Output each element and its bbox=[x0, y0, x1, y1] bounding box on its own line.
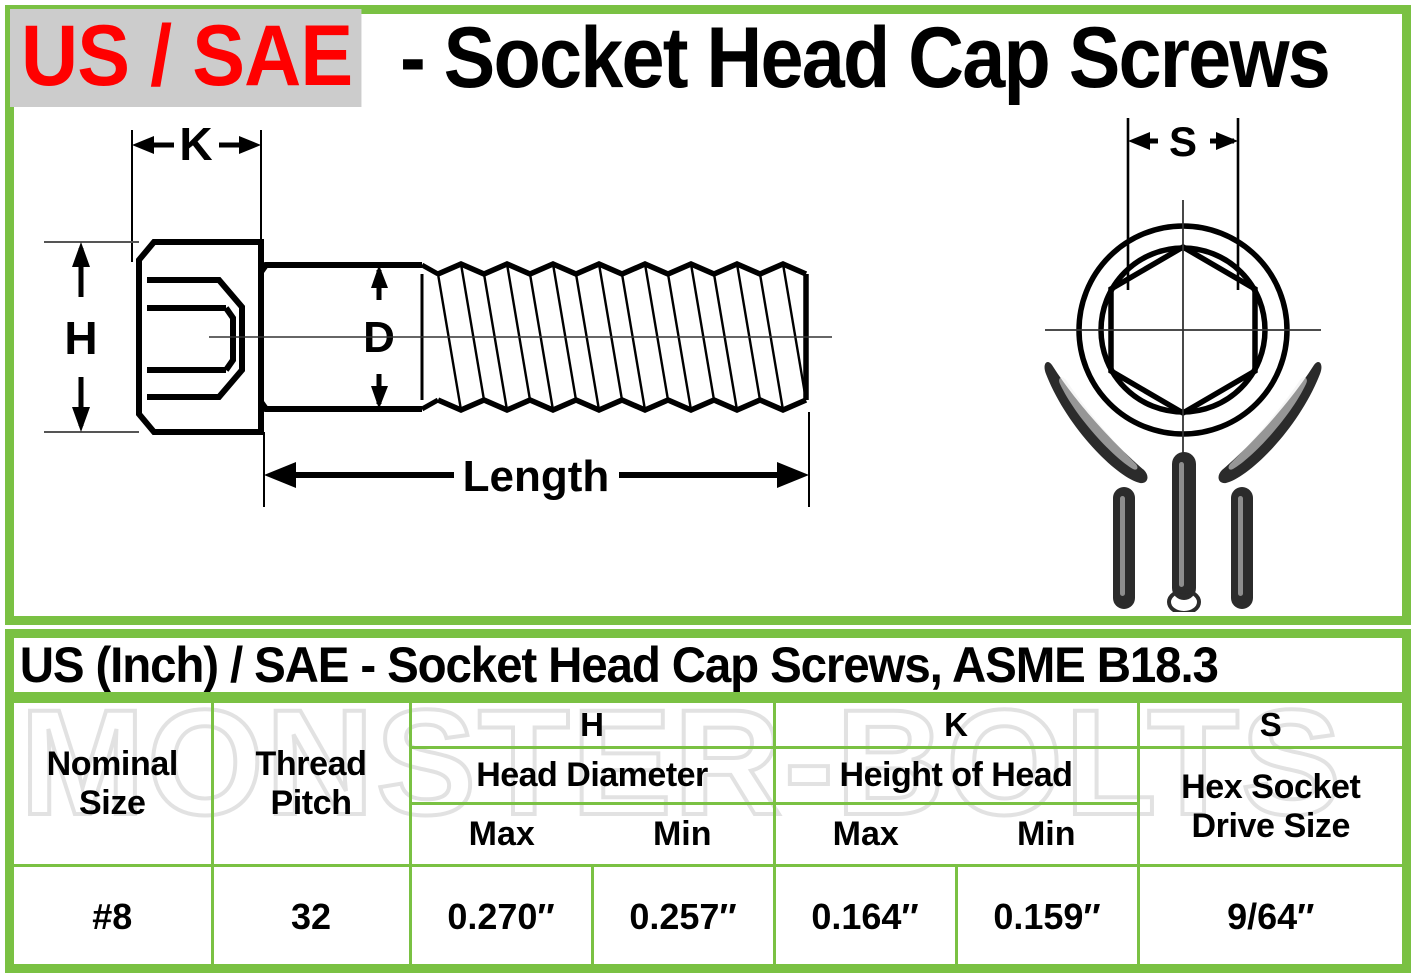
spec-sheet-page: US / SAE - Socket Head Cap Screws K bbox=[0, 0, 1416, 978]
col-header-thread-pitch: Thread Pitch bbox=[212, 702, 410, 866]
specification-table: Nominal Size Thread Pitch H K S Head Dia… bbox=[14, 700, 1402, 969]
table-title-text: US (Inch) / SAE - Socket Head Cap Screws… bbox=[14, 638, 1218, 694]
col-header-hex-socket-l1: Hex Socket bbox=[1142, 768, 1401, 806]
table-header-symbols: Nominal Size Thread Pitch H K S bbox=[14, 702, 1402, 748]
col-header-k-min: Min bbox=[956, 804, 1138, 866]
col-header-head-diameter: Head Diameter bbox=[410, 748, 774, 804]
col-header-h-max: Max bbox=[410, 804, 592, 866]
col-header-nominal-size-l2: Size bbox=[16, 784, 209, 822]
page-title: US / SAE - Socket Head Cap Screws bbox=[10, 8, 1390, 108]
dim-label-s: S bbox=[1169, 118, 1197, 165]
page-title-highlight: US / SAE bbox=[10, 9, 361, 107]
cell-head-diameter-max: 0.270″ bbox=[410, 866, 592, 968]
table-row: #8 32 0.270″ 0.257″ 0.164″ 0.159″ 9/64″ bbox=[14, 866, 1402, 968]
cell-thread-pitch: 32 bbox=[212, 866, 410, 968]
col-header-thread-pitch-l1: Thread bbox=[216, 745, 407, 783]
cell-hex-socket-drive-size: 9/64″ bbox=[1138, 866, 1402, 968]
col-header-k-max: Max bbox=[774, 804, 956, 866]
dim-label-h: H bbox=[64, 312, 97, 364]
col-header-h-min: Min bbox=[592, 804, 774, 866]
col-header-s-symbol: S bbox=[1138, 702, 1402, 748]
col-header-k-symbol: K bbox=[774, 702, 1138, 748]
col-header-nominal-size-l1: Nominal bbox=[16, 745, 209, 783]
cell-height-of-head-max: 0.164″ bbox=[774, 866, 956, 968]
col-header-nominal-size: Nominal Size bbox=[14, 702, 212, 866]
dim-label-length: Length bbox=[463, 452, 610, 501]
cell-head-diameter-min: 0.257″ bbox=[592, 866, 774, 968]
col-header-height-of-head: Height of Head bbox=[774, 748, 1138, 804]
col-header-hex-socket-drive-size: Hex Socket Drive Size bbox=[1138, 748, 1402, 866]
cell-nominal-size: #8 bbox=[14, 866, 212, 968]
table-title: US (Inch) / SAE - Socket Head Cap Screws… bbox=[14, 638, 1402, 700]
dim-label-k: K bbox=[179, 118, 212, 170]
hex-socket-top-view: S bbox=[1030, 112, 1370, 612]
col-header-thread-pitch-l2: Pitch bbox=[216, 784, 407, 822]
col-header-hex-socket-l2: Drive Size bbox=[1142, 807, 1401, 845]
page-title-rest: - Socket Head Cap Screws bbox=[400, 13, 1329, 103]
cell-height-of-head-min: 0.159″ bbox=[956, 866, 1138, 968]
col-header-h-symbol: H bbox=[410, 702, 774, 748]
socket-head-cap-screw-side-view: K H bbox=[14, 112, 834, 512]
